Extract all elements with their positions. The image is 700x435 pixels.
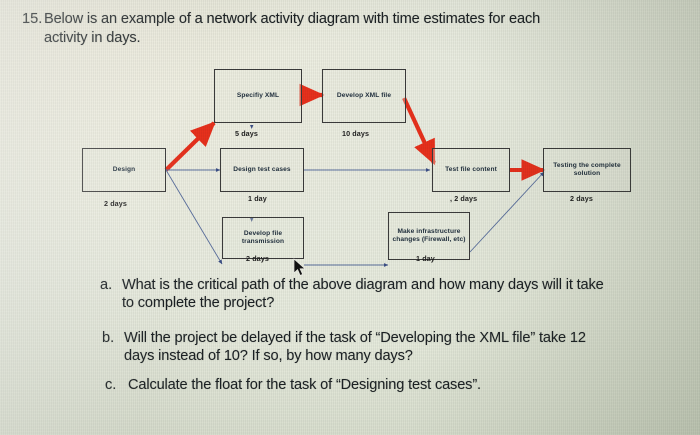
node-specify-xml[interactable]: Specifiy XML	[214, 69, 302, 123]
part-b-line2: days instead of 10? If so, by how many d…	[124, 347, 694, 366]
diagram-edges	[0, 0, 700, 435]
node-make-infra[interactable]: Make infrastructure changes (Firewall, e…	[388, 212, 470, 260]
part-b-line1: Will the project be delayed if the task …	[124, 329, 694, 348]
node-develop-file[interactable]: Develop file transmission	[222, 217, 304, 259]
node-test-content[interactable]: Test file content	[432, 148, 510, 192]
mouse-pointer-icon	[293, 258, 306, 277]
edge-design-to-specify-xml	[166, 123, 214, 170]
node-label: Design test cases	[233, 166, 290, 174]
question-stem-line2: activity in days.	[44, 29, 674, 48]
duration-design-tests: 1 day	[248, 194, 267, 203]
node-label: Design	[113, 166, 136, 174]
question-stem-line1: Below is an example of a network activit…	[44, 10, 674, 29]
duration-design: 2 days	[104, 199, 127, 208]
node-label: Develop file transmission	[225, 230, 301, 247]
edge-design-to-develop-file	[166, 170, 222, 264]
duration-develop-file: 2 days	[246, 254, 269, 263]
part-c-line1: Calculate the float for the task of “Des…	[128, 376, 698, 395]
node-label: Test file content	[445, 166, 497, 174]
part-a-label: a.	[100, 276, 112, 295]
node-label: Testing the complete solution	[546, 162, 628, 179]
node-design-tests[interactable]: Design test cases	[220, 148, 304, 192]
node-label: Develop XML file	[337, 92, 391, 100]
node-testing-all[interactable]: Testing the complete solution	[543, 148, 631, 192]
part-b-label: b.	[102, 329, 114, 348]
photo-page: 15. Below is an example of a network act…	[0, 0, 700, 435]
part-a-line2: to complete the project?	[122, 294, 692, 313]
part-c-label: c.	[105, 376, 116, 395]
edge-develop-xml-to-test-content	[404, 98, 434, 163]
question-number: 15.	[22, 10, 42, 29]
duration-testing-all: 2 days	[570, 194, 593, 203]
duration-specify-xml: 5 days	[235, 129, 258, 138]
network-activity-diagram: Specifiy XML 5 days Develop XML file 10 …	[0, 0, 700, 435]
duration-make-infra: 1 day	[416, 254, 435, 263]
node-design[interactable]: Design	[82, 148, 166, 192]
duration-develop-xml: 10 days	[342, 129, 369, 138]
node-develop-xml[interactable]: Develop XML file	[322, 69, 406, 123]
node-label: Specifiy XML	[237, 92, 279, 100]
duration-test-content: , 2 days	[450, 194, 477, 203]
node-label: Make infrastructure changes (Firewall, e…	[391, 228, 467, 245]
part-a-line1: What is the critical path of the above d…	[122, 276, 692, 295]
